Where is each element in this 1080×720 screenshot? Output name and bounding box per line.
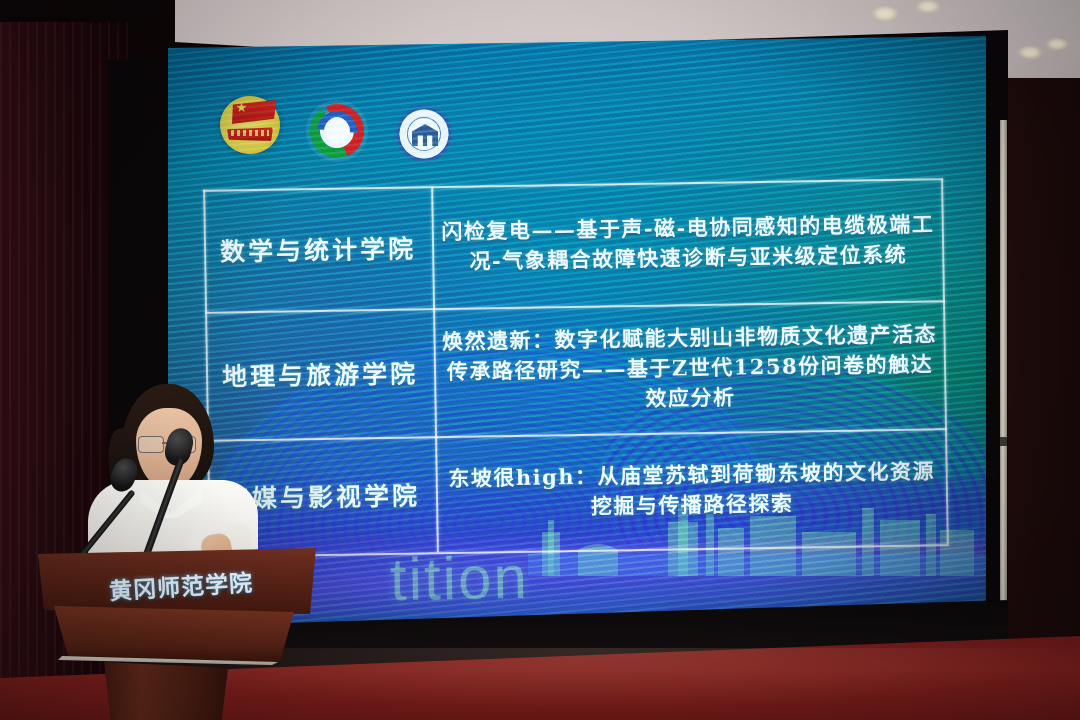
- ceiling-spotlight: [1046, 38, 1068, 50]
- ceiling-spotlight: [916, 0, 940, 13]
- auditorium-scene: tition: [0, 0, 1080, 720]
- pole-joint: [1000, 437, 1007, 446]
- venue-label: 黄冈师范学院: [108, 564, 254, 607]
- vertical-pole: [1000, 120, 1007, 640]
- podium-column: [88, 662, 238, 720]
- led-vignette: [168, 36, 986, 628]
- ceiling-spotlight: [1018, 46, 1042, 59]
- ceiling-spotlight: [872, 6, 898, 21]
- podium-front-panel: [44, 606, 300, 662]
- led-display-wall: tition: [168, 36, 986, 628]
- podium: 黄冈师范学院: [28, 548, 328, 720]
